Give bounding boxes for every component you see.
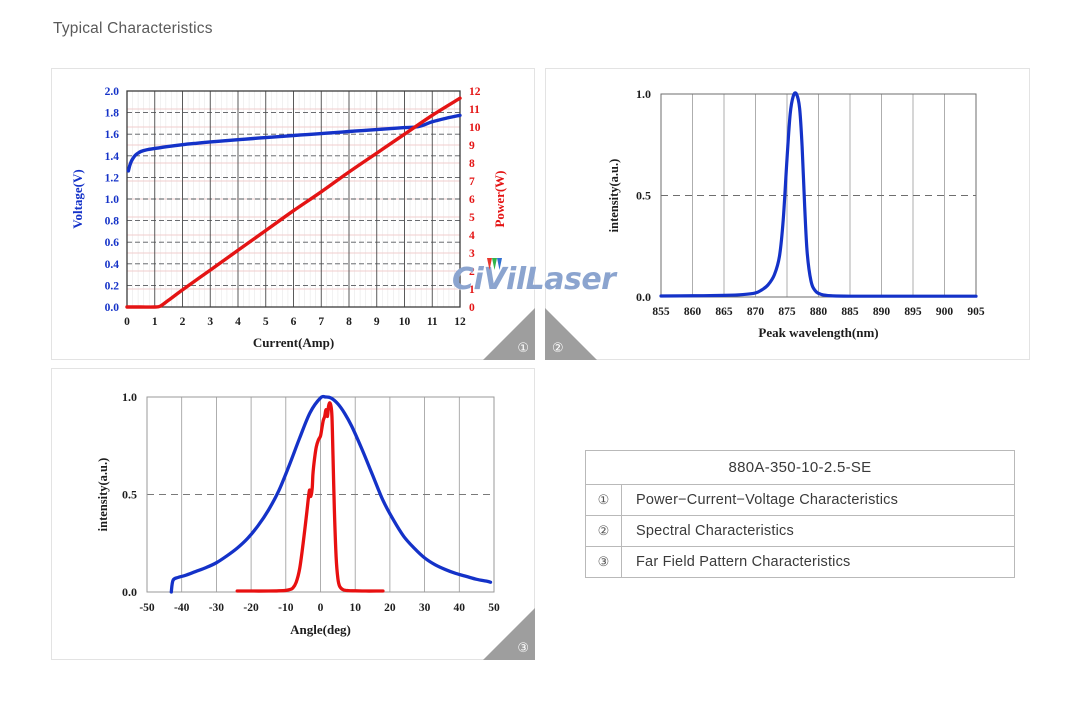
table-row: ① Power−Current−Voltage Characteristics bbox=[586, 485, 1015, 516]
svg-text:7: 7 bbox=[469, 176, 475, 188]
characteristics-table: 880A-350-10-2.5-SE ① Power−Current−Volta… bbox=[585, 450, 1015, 578]
svg-text:-50: -50 bbox=[139, 602, 155, 614]
table-title-cell: 880A-350-10-2.5-SE bbox=[586, 451, 1015, 485]
chart-spectral: 0.00.51.08558608658708758808858908959009… bbox=[546, 69, 1029, 359]
svg-text:1.0: 1.0 bbox=[105, 194, 120, 206]
svg-text:5: 5 bbox=[263, 316, 269, 328]
svg-text:890: 890 bbox=[873, 306, 891, 318]
svg-text:intensity(a.u.): intensity(a.u.) bbox=[607, 159, 621, 233]
svg-text:4: 4 bbox=[235, 316, 241, 328]
svg-text:1.0: 1.0 bbox=[122, 390, 137, 404]
svg-text:11: 11 bbox=[469, 104, 480, 116]
svg-text:Angle(deg): Angle(deg) bbox=[290, 622, 351, 637]
svg-text:3: 3 bbox=[469, 248, 475, 260]
svg-text:9: 9 bbox=[469, 140, 475, 152]
table-row: ② Spectral Characteristics bbox=[586, 516, 1015, 547]
svg-text:0.8: 0.8 bbox=[105, 216, 120, 228]
svg-text:12: 12 bbox=[454, 316, 466, 328]
row-index-2: ② bbox=[586, 516, 622, 547]
svg-text:2.0: 2.0 bbox=[105, 86, 120, 98]
svg-text:-30: -30 bbox=[209, 602, 225, 614]
svg-text:4: 4 bbox=[469, 230, 475, 242]
svg-text:0: 0 bbox=[318, 602, 324, 614]
row-desc-1: Power−Current−Voltage Characteristics bbox=[622, 485, 1015, 516]
svg-text:855: 855 bbox=[652, 306, 670, 318]
svg-text:870: 870 bbox=[747, 306, 765, 318]
svg-text:3: 3 bbox=[207, 316, 213, 328]
svg-text:40: 40 bbox=[454, 602, 466, 614]
page-title: Typical Characteristics bbox=[53, 20, 213, 38]
document-root: Typical Characteristics 0.00.20.40.60.81… bbox=[0, 0, 1074, 709]
panel-spectral: 0.00.51.08558608658708758808858908959009… bbox=[545, 68, 1030, 360]
svg-text:7: 7 bbox=[318, 316, 324, 328]
svg-text:-20: -20 bbox=[243, 602, 259, 614]
row-index-1: ① bbox=[586, 485, 622, 516]
table-body: 880A-350-10-2.5-SE ① Power−Current−Volta… bbox=[586, 451, 1015, 578]
svg-text:10: 10 bbox=[349, 602, 361, 614]
svg-text:10: 10 bbox=[399, 316, 411, 328]
svg-text:1: 1 bbox=[469, 284, 475, 296]
svg-text:-10: -10 bbox=[278, 602, 294, 614]
svg-text:30: 30 bbox=[419, 602, 431, 614]
svg-text:0.0: 0.0 bbox=[122, 585, 137, 599]
svg-text:intensity(a.u.): intensity(a.u.) bbox=[96, 458, 110, 532]
svg-text:0: 0 bbox=[124, 316, 130, 328]
row-desc-3: Far Field Pattern Characteristics bbox=[622, 547, 1015, 578]
svg-text:8: 8 bbox=[346, 316, 352, 328]
svg-text:1.6: 1.6 bbox=[105, 129, 120, 141]
row-desc-2: Spectral Characteristics bbox=[622, 516, 1015, 547]
svg-text:1: 1 bbox=[152, 316, 158, 328]
svg-text:905: 905 bbox=[967, 306, 985, 318]
svg-text:6: 6 bbox=[291, 316, 297, 328]
svg-text:0.5: 0.5 bbox=[122, 488, 137, 502]
panel-power-current-voltage: 0.00.20.40.60.81.01.21.41.61.82.00123456… bbox=[51, 68, 535, 360]
svg-text:1.8: 1.8 bbox=[105, 108, 120, 120]
svg-text:10: 10 bbox=[469, 122, 481, 134]
svg-text:0.5: 0.5 bbox=[636, 189, 651, 203]
svg-text:0.0: 0.0 bbox=[636, 290, 651, 304]
svg-text:860: 860 bbox=[684, 306, 702, 318]
svg-text:865: 865 bbox=[715, 306, 733, 318]
svg-text:2: 2 bbox=[180, 316, 186, 328]
svg-text:-40: -40 bbox=[174, 602, 190, 614]
svg-text:885: 885 bbox=[841, 306, 859, 318]
svg-text:9: 9 bbox=[374, 316, 380, 328]
svg-text:900: 900 bbox=[936, 306, 954, 318]
svg-text:11: 11 bbox=[427, 316, 438, 328]
svg-text:875: 875 bbox=[778, 306, 796, 318]
svg-text:12: 12 bbox=[469, 86, 481, 98]
panel-far-field: 0.00.51.0-50-40-30-20-1001020304050Angle… bbox=[51, 368, 535, 660]
svg-text:0.0: 0.0 bbox=[105, 302, 120, 314]
svg-text:0.2: 0.2 bbox=[105, 280, 120, 292]
table-header-row: 880A-350-10-2.5-SE bbox=[586, 451, 1015, 485]
svg-text:5: 5 bbox=[469, 212, 475, 224]
svg-text:1.4: 1.4 bbox=[105, 151, 120, 163]
svg-text:1.0: 1.0 bbox=[636, 87, 651, 101]
svg-text:Voltage(V): Voltage(V) bbox=[70, 169, 85, 228]
svg-text:Current(Amp): Current(Amp) bbox=[253, 335, 334, 350]
svg-text:Power(W): Power(W) bbox=[492, 170, 507, 227]
svg-text:880: 880 bbox=[810, 306, 828, 318]
svg-text:6: 6 bbox=[469, 194, 475, 206]
svg-text:8: 8 bbox=[469, 158, 475, 170]
chart-far-field: 0.00.51.0-50-40-30-20-1001020304050Angle… bbox=[52, 369, 534, 659]
table-row: ③ Far Field Pattern Characteristics bbox=[586, 547, 1015, 578]
svg-text:0: 0 bbox=[469, 302, 475, 314]
svg-text:895: 895 bbox=[904, 306, 922, 318]
svg-text:20: 20 bbox=[384, 602, 396, 614]
svg-text:50: 50 bbox=[488, 602, 500, 614]
chart-power-current-voltage: 0.00.20.40.60.81.01.21.41.61.82.00123456… bbox=[52, 69, 534, 359]
row-index-3: ③ bbox=[586, 547, 622, 578]
svg-text:Peak wavelength(nm): Peak wavelength(nm) bbox=[758, 325, 878, 340]
svg-text:0.6: 0.6 bbox=[105, 237, 120, 249]
svg-text:2: 2 bbox=[469, 266, 475, 278]
svg-text:1.2: 1.2 bbox=[105, 172, 120, 184]
svg-text:0.4: 0.4 bbox=[105, 259, 120, 271]
